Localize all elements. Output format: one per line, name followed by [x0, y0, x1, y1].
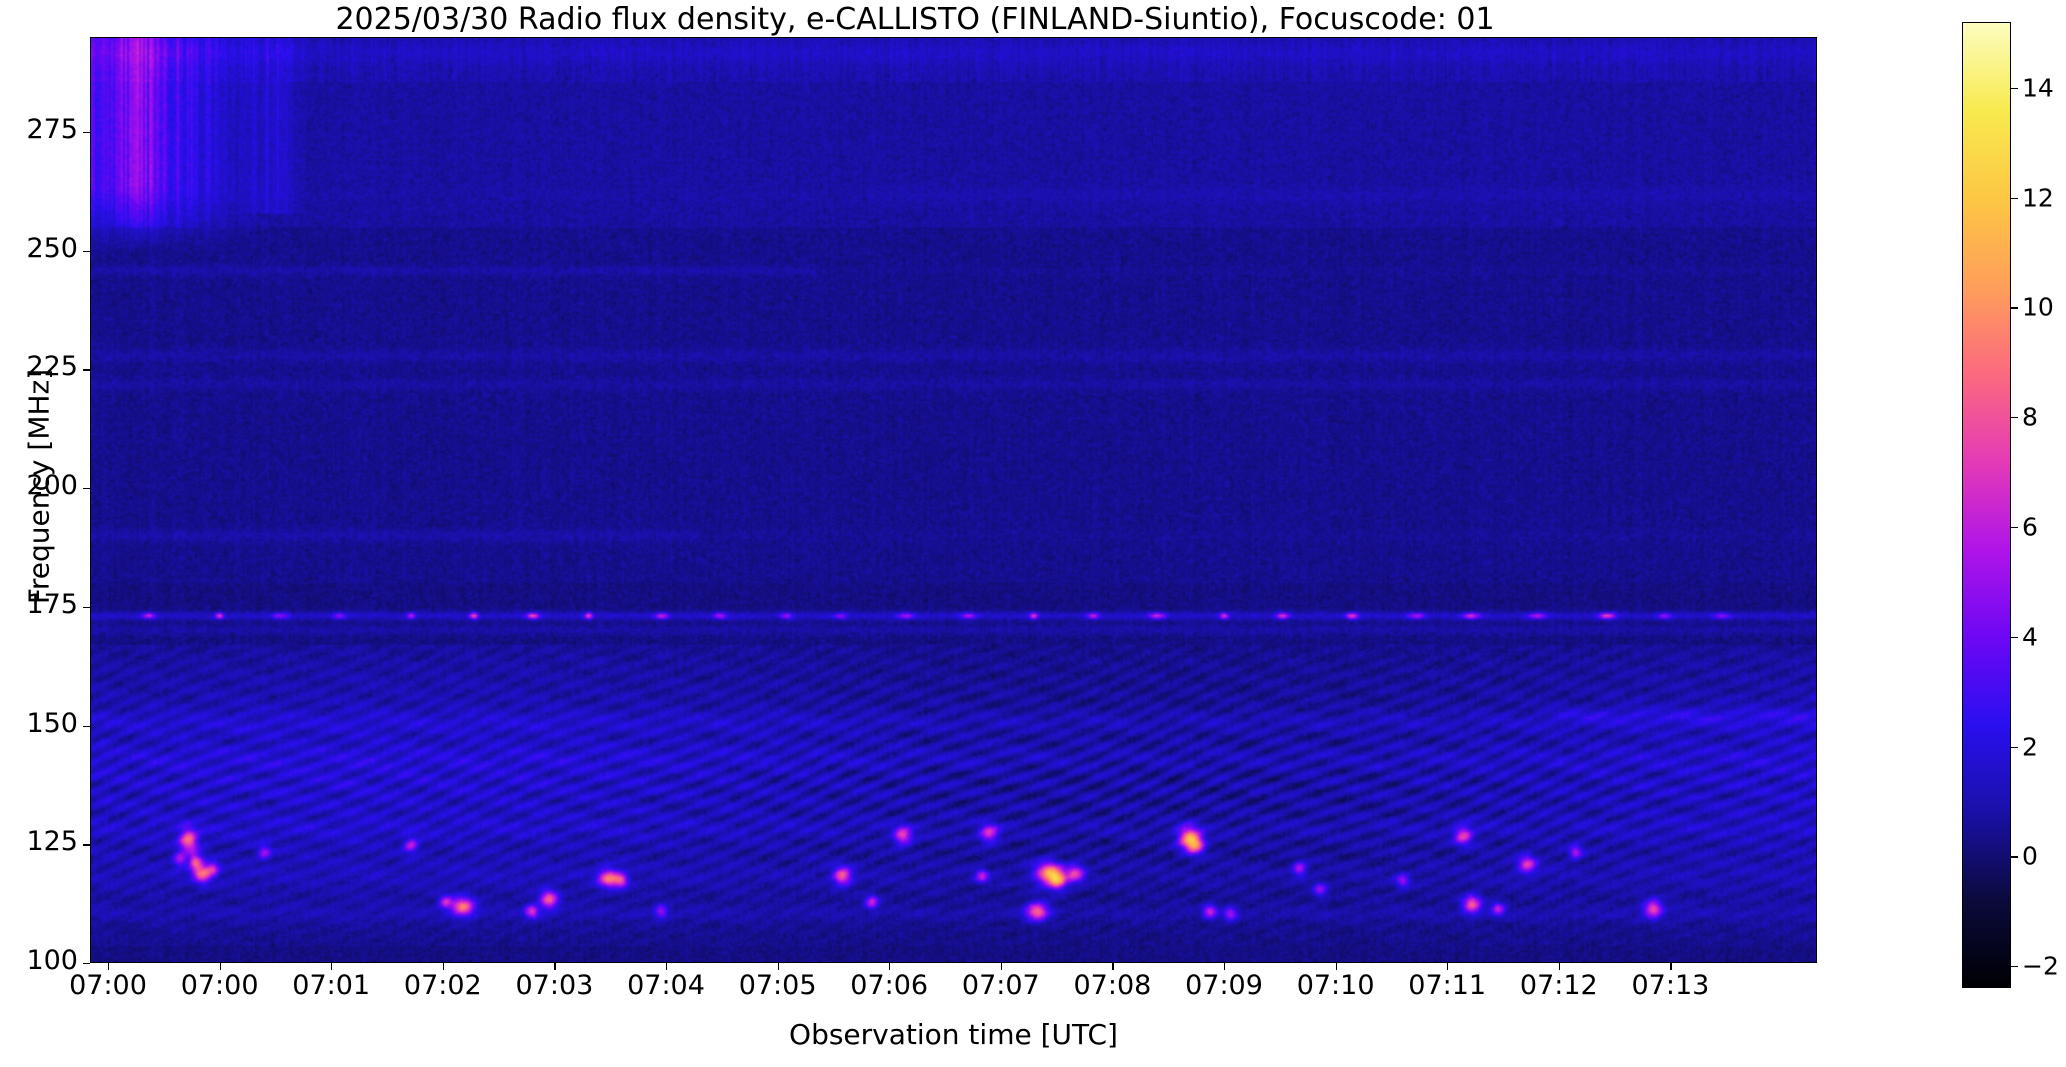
- x-tick-label: 07:05: [739, 970, 817, 1001]
- x-tick-label: 07:10: [1297, 970, 1375, 1001]
- colorbar-tick-label: −2: [2022, 952, 2059, 981]
- y-tick-mark: [83, 726, 90, 727]
- spectrogram-axes: [90, 37, 1817, 963]
- y-tick-label: 200: [26, 470, 78, 501]
- colorbar-tick-label: 4: [2022, 622, 2038, 651]
- x-tick-mark: [778, 963, 779, 970]
- x-tick-mark: [108, 963, 109, 970]
- colorbar-tick-label: 14: [2022, 73, 2054, 102]
- x-tick-mark: [1224, 963, 1225, 970]
- colorbar-tick-label: 12: [2022, 183, 2054, 212]
- x-tick-label: 07:12: [1520, 970, 1598, 1001]
- figure-canvas: 2025/03/30 Radio flux density, e-CALLIST…: [0, 0, 2066, 1067]
- y-tick-mark: [83, 132, 90, 133]
- x-tick-mark: [554, 963, 555, 970]
- y-tick-label: 150: [26, 708, 78, 739]
- x-tick-mark: [1001, 963, 1002, 970]
- y-tick-mark: [83, 251, 90, 252]
- colorbar-gradient: [1963, 23, 2010, 987]
- x-tick-label: 07:03: [515, 970, 593, 1001]
- colorbar-tick-label: 2: [2022, 732, 2038, 761]
- colorbar-tick-label: 6: [2022, 512, 2038, 541]
- y-tick-mark: [83, 844, 90, 845]
- x-tick-label: 07:04: [627, 970, 705, 1001]
- x-tick-mark: [1670, 963, 1671, 970]
- colorbar-tick-mark: [2011, 88, 2018, 89]
- x-tick-label: 07:01: [292, 970, 370, 1001]
- y-tick-mark: [83, 369, 90, 370]
- x-tick-label: 07:09: [1185, 970, 1263, 1001]
- x-tick-label: 07:00: [181, 970, 259, 1001]
- x-tick-mark: [1112, 963, 1113, 970]
- colorbar-tick-mark: [2011, 856, 2018, 857]
- x-tick-label: 07:00: [69, 970, 147, 1001]
- x-tick-label: 07:02: [404, 970, 482, 1001]
- colorbar-tick-mark: [2011, 307, 2018, 308]
- colorbar-tick-mark: [2011, 527, 2018, 528]
- colorbar-tick-mark: [2011, 198, 2018, 199]
- x-axis-label: Observation time [UTC]: [90, 1018, 1817, 1051]
- y-tick-mark: [83, 607, 90, 608]
- x-tick-mark: [889, 963, 890, 970]
- y-tick-label: 275: [26, 114, 78, 145]
- y-tick-mark: [83, 963, 90, 964]
- colorbar-tick-label: 10: [2022, 293, 2054, 322]
- x-tick-label: 07:11: [1408, 970, 1486, 1001]
- y-tick-label: 250: [26, 233, 78, 264]
- colorbar-tick-mark: [2011, 417, 2018, 418]
- x-tick-label: 07:08: [1073, 970, 1151, 1001]
- colorbar: [1962, 22, 2011, 988]
- colorbar-tick-label: 0: [2022, 842, 2038, 871]
- x-tick-label: 07:07: [962, 970, 1040, 1001]
- colorbar-tick-mark: [2011, 637, 2018, 638]
- x-tick-mark: [220, 963, 221, 970]
- page-title: 2025/03/30 Radio flux density, e-CALLIST…: [0, 2, 1830, 37]
- y-tick-mark: [83, 488, 90, 489]
- x-tick-mark: [443, 963, 444, 970]
- y-tick-label: 225: [26, 351, 78, 382]
- colorbar-tick-label: 8: [2022, 403, 2038, 432]
- spectrogram-image: [91, 38, 1816, 962]
- y-tick-label: 175: [26, 589, 78, 620]
- colorbar-tick-mark: [2011, 747, 2018, 748]
- y-tick-label: 125: [26, 826, 78, 857]
- x-tick-mark: [1447, 963, 1448, 970]
- x-tick-mark: [331, 963, 332, 970]
- x-tick-label: 07:06: [850, 970, 928, 1001]
- x-tick-mark: [1559, 963, 1560, 970]
- x-tick-mark: [666, 963, 667, 970]
- x-tick-mark: [1336, 963, 1337, 970]
- x-tick-label: 07:13: [1631, 970, 1709, 1001]
- colorbar-tick-mark: [2011, 966, 2018, 967]
